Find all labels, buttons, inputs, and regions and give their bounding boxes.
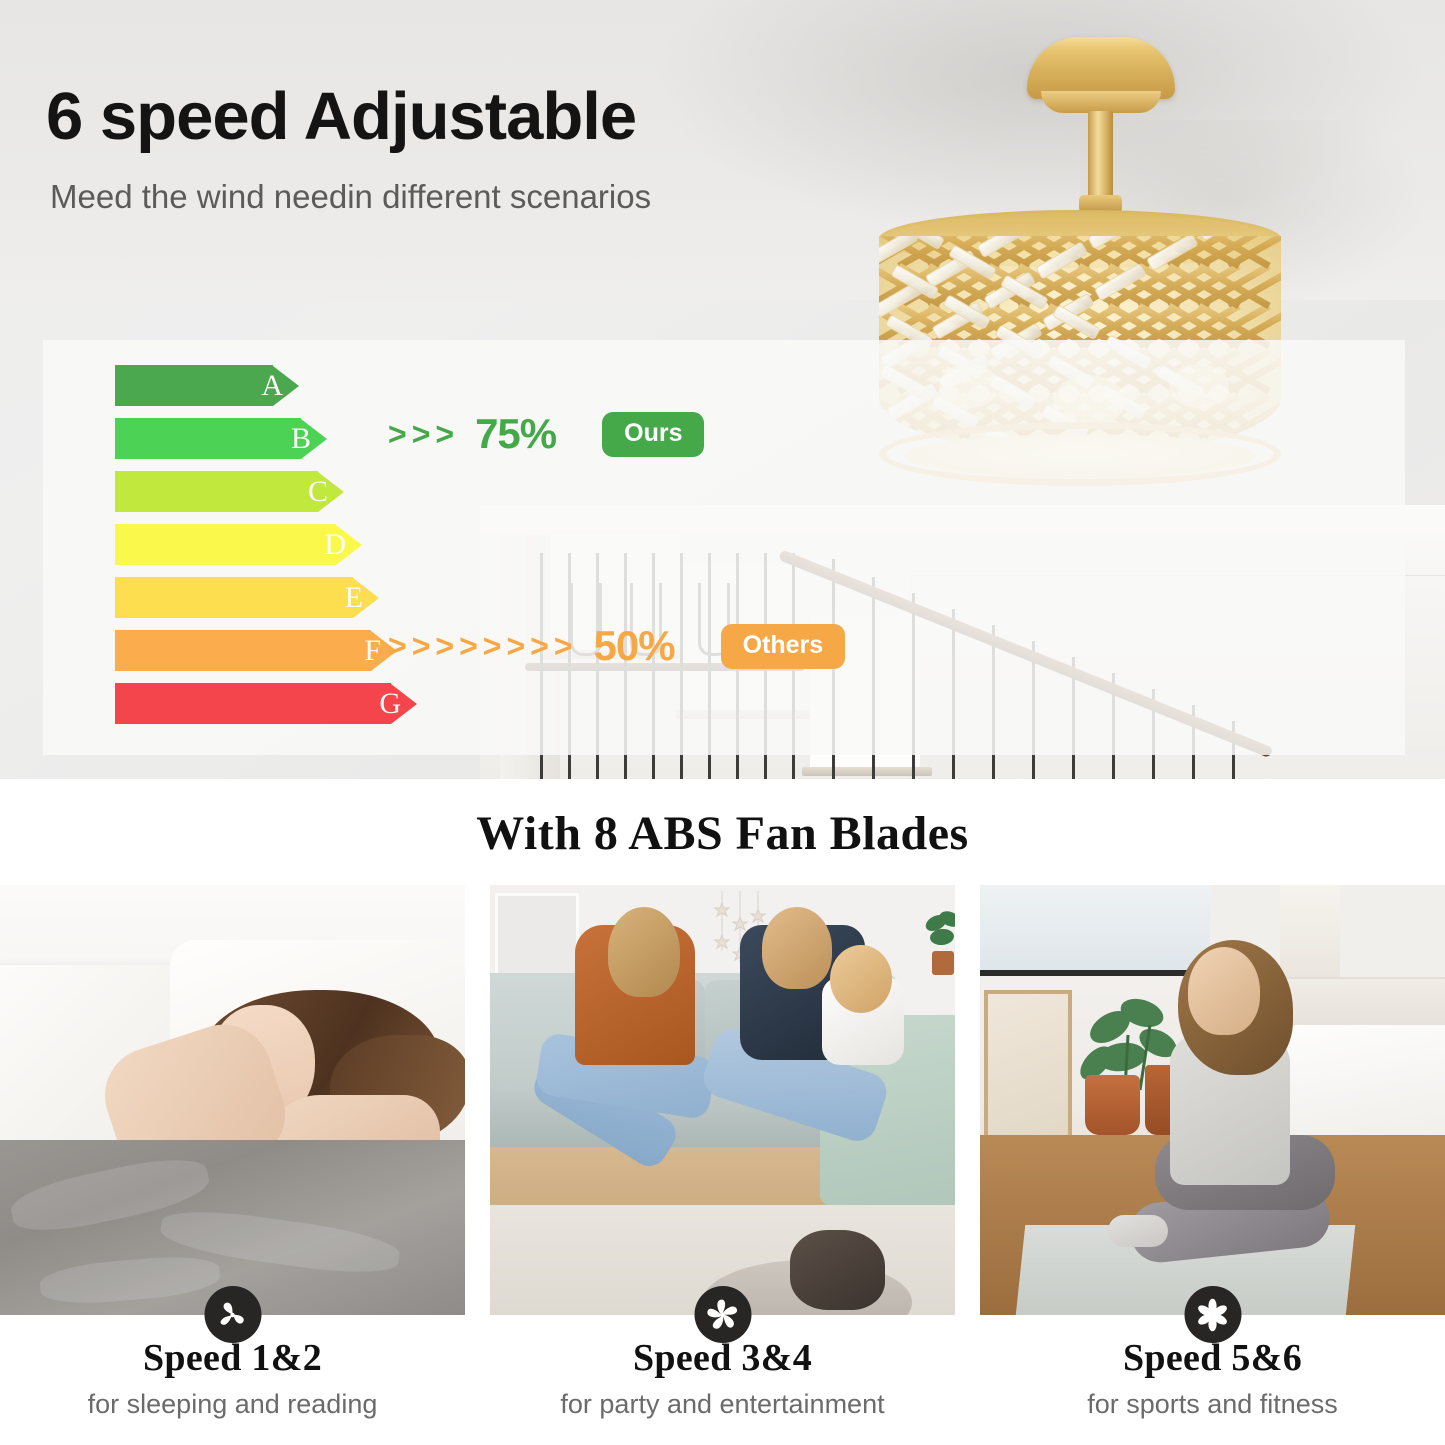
- scene-photo-family: [490, 885, 955, 1315]
- dog: [790, 1230, 885, 1310]
- child-head: [830, 945, 892, 1013]
- plant-glyph: [922, 905, 955, 985]
- sock: [1108, 1215, 1168, 1247]
- percent-value-ours: 75%: [475, 410, 556, 458]
- fan-3-blade-glyph: [216, 1298, 250, 1332]
- energy-bar-a: A: [115, 365, 299, 406]
- energy-bar-g: G: [115, 683, 417, 724]
- bar-letter: F: [364, 636, 381, 666]
- fan-canopy-ring: [1041, 91, 1161, 113]
- shelf-unit: [495, 893, 579, 979]
- blanket-fold: [39, 1252, 222, 1308]
- speed-subtitle-1: for sleeping and reading: [0, 1389, 465, 1420]
- speed-subtitle-3: for sports and fitness: [980, 1389, 1445, 1420]
- terracotta-pot-1: [1085, 1075, 1140, 1135]
- bar-letter: B: [291, 424, 311, 454]
- fan-canopy: [1027, 37, 1175, 99]
- bar-letter: C: [308, 477, 328, 507]
- chevron-arrows-ours: >>>: [388, 416, 459, 453]
- window: [980, 885, 1210, 976]
- energy-bar-b: B: [115, 418, 327, 459]
- bar-letter: D: [324, 530, 346, 560]
- badge-ours: Ours: [602, 412, 704, 457]
- bar-body: [115, 683, 391, 724]
- bar-body: [115, 524, 336, 565]
- potted-plant: [922, 905, 955, 985]
- energy-bar-f: F: [115, 630, 397, 671]
- bar-body: [115, 577, 353, 618]
- fan-5-blade-icon: [694, 1286, 751, 1343]
- energy-bar-d: D: [115, 524, 362, 565]
- speed-subtitle-2: for party and entertainment: [490, 1389, 955, 1420]
- comparison-row-others: >>>>>>>>50%Others: [388, 622, 845, 670]
- bar-body: [115, 418, 301, 459]
- bar-letter: A: [261, 371, 283, 401]
- speed-scenes-row: Speed 1&2 for sleeping and reading: [0, 885, 1445, 1445]
- chevron-arrows-others: >>>>>>>>: [388, 628, 578, 665]
- product-feature-page: 6 speed Adjustable Meed the wind needin …: [0, 0, 1445, 1445]
- bar-body: [115, 471, 318, 512]
- energy-bar-e: E: [115, 577, 379, 618]
- energy-rating-card: ABCDEFG >>>75%Ours>>>>>>>>50%Others: [43, 340, 1405, 755]
- speed-card-1: Speed 1&2 for sleeping and reading: [0, 885, 465, 1445]
- bar-letter: E: [345, 583, 363, 613]
- fan-3-blade-icon: [204, 1286, 261, 1343]
- fan-downrod: [1088, 111, 1113, 203]
- scene-photo-sleeping: [0, 885, 465, 1315]
- badge-others: Others: [721, 624, 846, 669]
- speed-card-2: Speed 3&4 for party and entertainment: [490, 885, 955, 1445]
- fan-5-blade-glyph: [705, 1297, 741, 1333]
- page-title: 6 speed Adjustable: [46, 78, 636, 155]
- comparison-row-ours: >>>75%Ours: [388, 410, 704, 458]
- percent-value-others: 50%: [594, 622, 675, 670]
- bar-letter: G: [379, 689, 401, 719]
- woman-head: [608, 907, 680, 997]
- fan-6-blade-glyph: [1195, 1297, 1231, 1333]
- face: [1188, 947, 1260, 1035]
- speed-card-3: Speed 5&6 for sports and fitness: [980, 885, 1445, 1445]
- bar-body: [115, 365, 273, 406]
- bar-body: [115, 630, 371, 671]
- blades-heading: With 8 ABS Fan Blades: [0, 806, 1445, 861]
- fan-6-blade-icon: [1184, 1286, 1241, 1343]
- page-subtitle: Meed the wind needin different scenarios: [50, 178, 651, 216]
- scene-photo-fitness: [980, 885, 1445, 1315]
- top-section: 6 speed Adjustable Meed the wind needin …: [0, 0, 1445, 779]
- energy-bar-c: C: [115, 471, 344, 512]
- man-head: [762, 907, 832, 989]
